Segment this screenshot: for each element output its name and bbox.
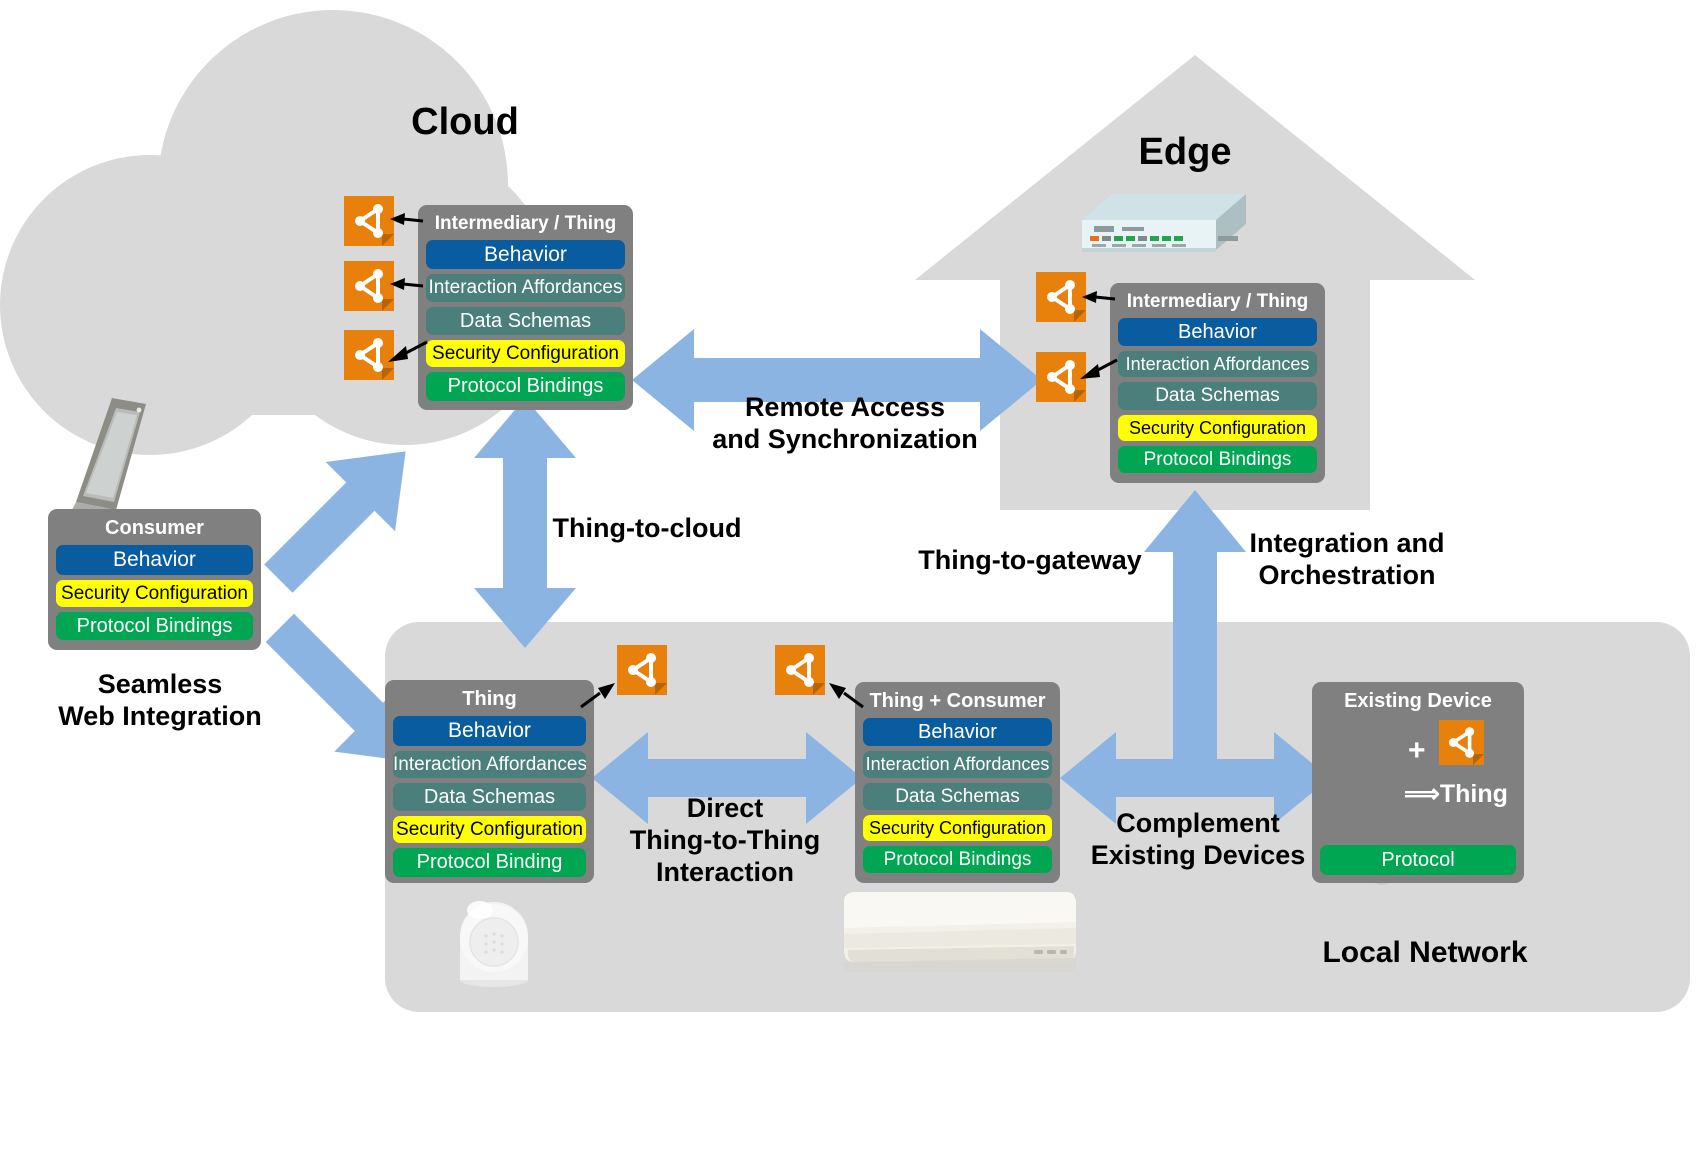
label-direct-thing-to-thing: Direct Thing-to-Thing Interaction	[600, 793, 850, 889]
arrow-consumer-to-cloud	[252, 420, 432, 610]
label-thing-to-gateway: Thing-to-gateway	[885, 545, 1175, 577]
connector-arrow-td-affordances	[390, 277, 424, 293]
existing-device-plus-symbol: +	[1408, 734, 1426, 768]
box-title: Thing	[393, 688, 586, 711]
row-protocol[interactable]: Protocol	[1320, 845, 1516, 875]
connector-arrow-td-affordances	[1080, 357, 1118, 381]
row-behavior[interactable]: Behavior	[426, 240, 625, 270]
row-interaction-affordances[interactable]: Interaction Affordances	[1118, 351, 1317, 377]
box-title: Intermediary / Thing	[426, 213, 625, 235]
air-conditioner-device-image	[838, 888, 1076, 991]
row-data-schemas[interactable]: Data Schemas	[426, 307, 625, 335]
row-behavior[interactable]: Behavior	[56, 545, 253, 575]
row-data-schemas[interactable]: Data Schemas	[1118, 382, 1317, 409]
row-behavior[interactable]: Behavior	[1118, 318, 1317, 346]
thing-description-icon[interactable]	[344, 196, 394, 250]
connector-arrow-td-title	[1082, 290, 1116, 306]
edge-intermediary-thing-box[interactable]: Intermediary / Thing Behavior Interactio…	[1110, 283, 1325, 483]
round-sensor-device-image	[442, 892, 546, 993]
label-integration-orchestration: Integration and Orchestration	[1202, 528, 1492, 592]
row-data-schemas[interactable]: Data Schemas	[393, 783, 586, 811]
existing-device-box[interactable]: Existing Device + ⟹Thing Protocol	[1312, 682, 1524, 883]
row-security-configuration[interactable]: Security Configuration	[863, 815, 1052, 841]
row-protocol-binding[interactable]: Protocol Binding	[393, 848, 586, 876]
row-interaction-affordances[interactable]: Interaction Affordances	[426, 274, 625, 301]
row-security-configuration[interactable]: Security Configuration	[1118, 415, 1317, 441]
label-seamless-web-integration: Seamless Web Integration	[20, 669, 300, 733]
label-thing-to-cloud: Thing-to-cloud	[512, 513, 782, 545]
thing-description-icon[interactable]	[1439, 720, 1486, 770]
thing-box[interactable]: Thing Behavior Interaction Affordances D…	[385, 680, 594, 883]
thing-description-icon[interactable]	[775, 645, 825, 699]
thing-consumer-box[interactable]: Thing + Consumer Behavior Interaction Af…	[855, 682, 1060, 883]
edge-label: Edge	[1080, 130, 1290, 175]
cloud-lobe	[60, 250, 460, 415]
row-interaction-affordances[interactable]: Interaction Affordances	[863, 751, 1052, 777]
thing-description-icon[interactable]	[344, 330, 394, 384]
connector-arrow-thing-to-td	[580, 683, 616, 709]
box-title: Intermediary / Thing	[1118, 291, 1317, 313]
row-behavior[interactable]: Behavior	[863, 718, 1052, 746]
row-security-configuration[interactable]: Security Configuration	[56, 580, 253, 607]
consumer-box[interactable]: Consumer Behavior Security Configuration…	[48, 509, 261, 650]
label-remote-access: Remote Access and Synchronization	[690, 392, 1000, 456]
diagram-canvas: Cloud Edge Local Network	[0, 0, 1708, 1175]
box-title: Existing Device	[1320, 690, 1516, 713]
box-title: Consumer	[56, 517, 253, 540]
connector-arrow-td-title	[390, 212, 424, 228]
thing-description-icon[interactable]	[617, 645, 667, 699]
row-security-configuration[interactable]: Security Configuration	[426, 340, 625, 367]
cloud-label: Cloud	[360, 100, 570, 145]
row-protocol-bindings[interactable]: Protocol Bindings	[863, 846, 1052, 873]
row-protocol-bindings[interactable]: Protocol Bindings	[56, 612, 253, 640]
edge-gateway-device-image	[1060, 190, 1250, 270]
cloud-intermediary-thing-box[interactable]: Intermediary / Thing Behavior Interactio…	[418, 205, 633, 410]
box-title: Thing + Consumer	[863, 690, 1052, 713]
connector-arrow-thingconsumer-to-td	[828, 683, 864, 709]
row-security-configuration[interactable]: Security Configuration	[393, 816, 586, 843]
row-interaction-affordances[interactable]: Interaction Affordances	[393, 751, 586, 778]
row-protocol-bindings[interactable]: Protocol Bindings	[426, 372, 625, 400]
connector-arrow-td-security	[388, 338, 428, 364]
local-network-label: Local Network	[1275, 935, 1575, 970]
thing-description-icon[interactable]	[1036, 272, 1086, 326]
row-data-schemas[interactable]: Data Schemas	[863, 783, 1052, 810]
label-complement-existing-devices: Complement Existing Devices	[1068, 808, 1328, 872]
thing-description-icon[interactable]	[344, 261, 394, 315]
row-protocol-bindings[interactable]: Protocol Bindings	[1118, 446, 1317, 473]
thing-description-icon[interactable]	[1036, 352, 1086, 406]
existing-device-becomes-thing-label: ⟹Thing	[1404, 779, 1508, 809]
row-behavior[interactable]: Behavior	[393, 716, 586, 746]
